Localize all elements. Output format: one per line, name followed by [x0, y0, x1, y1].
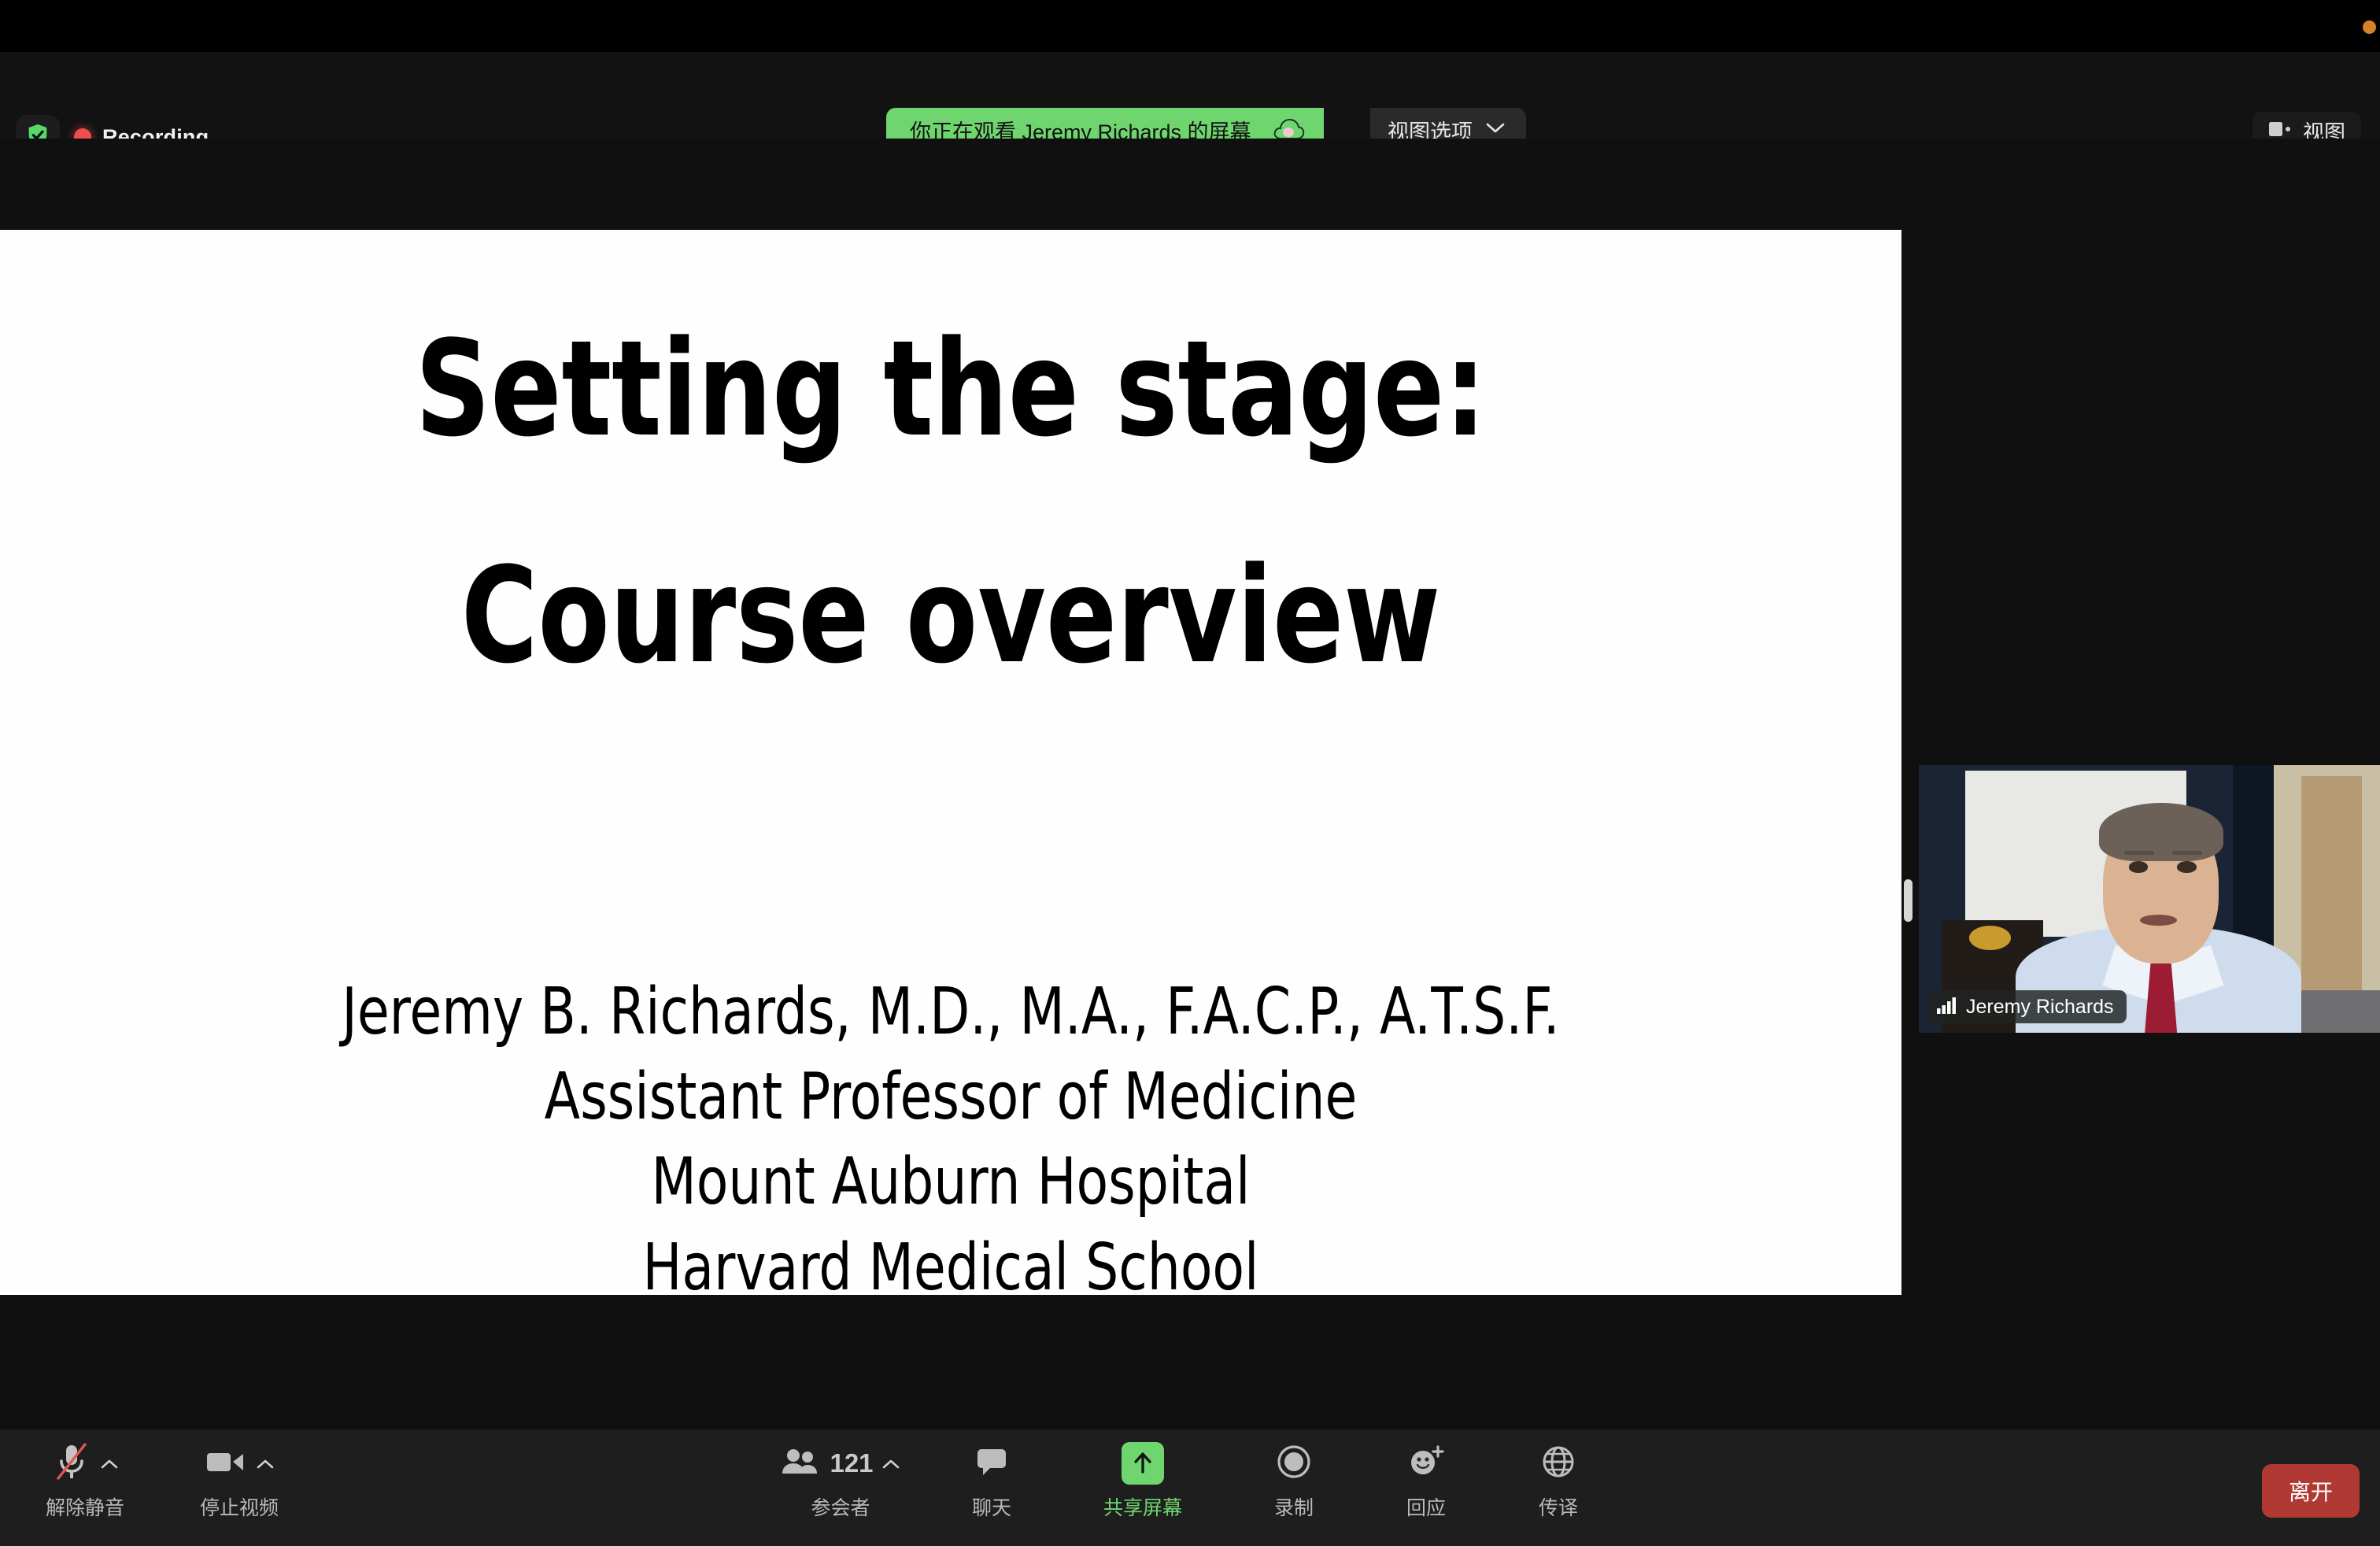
meeting-header-bar: Recording 你正在观看 Jeremy Richards 的屏幕 视图选项: [0, 52, 2380, 139]
participants-icon: [781, 1447, 822, 1481]
zoom-meeting-window: Recording 你正在观看 Jeremy Richards 的屏幕 视图选项: [0, 0, 2380, 1546]
video-camera-icon: [204, 1446, 248, 1481]
toolbar-left-group: 解除静音 停止视频: [19, 1441, 305, 1521]
slide-subtitle-line-3: Mount Auburn Hospital: [95, 1140, 1806, 1225]
toolbar-reactions-label: 回应: [1406, 1492, 1446, 1521]
toolbar-stop-video-button[interactable]: 停止视频: [173, 1441, 305, 1521]
toolbar-share-screen-button[interactable]: 共享屏幕: [1077, 1441, 1209, 1521]
toolbar-chat-label: 聊天: [972, 1492, 1011, 1521]
toolbar-participants-button[interactable]: 121 参会者: [774, 1441, 907, 1521]
slide-subtitle-line-4: Harvard Medical School: [95, 1226, 1806, 1295]
slide-subtitle-line-1: Jeremy B. Richards, M.D., M.A., F.A.C.P.…: [95, 970, 1806, 1055]
toolbar-chat-button[interactable]: 聊天: [944, 1441, 1039, 1521]
toolbar-record-label: 录制: [1274, 1492, 1314, 1521]
shared-slide: Setting the stage: Course overview Jerem…: [0, 230, 1901, 1295]
slide-subtitle-line-2: Assistant Professor of Medicine: [95, 1055, 1806, 1140]
chevron-down-icon: [1485, 122, 1506, 139]
toolbar-stop-video-label: 停止视频: [200, 1492, 279, 1521]
participant-name-tag: Jeremy Richards: [1927, 990, 2127, 1023]
share-screen-arrow-up-icon: [1122, 1442, 1164, 1485]
toolbar-interpretation-button[interactable]: 传译: [1511, 1441, 1606, 1521]
participants-chevron-up-icon[interactable]: [881, 1453, 900, 1474]
toolbar-record-button[interactable]: 录制: [1247, 1441, 1341, 1521]
toolbar-reactions-button[interactable]: 回应: [1379, 1441, 1473, 1521]
toolbar-unmute-button[interactable]: 解除静音: [19, 1441, 151, 1521]
participants-count: 121: [830, 1448, 873, 1478]
meeting-toolbar: 解除静音 停止视频: [0, 1429, 2380, 1546]
record-circle-icon: [1276, 1444, 1312, 1484]
participant-name-label: Jeremy Richards: [1966, 996, 2114, 1019]
toolbar-share-screen-label: 共享屏幕: [1103, 1492, 1182, 1521]
participant-video-tile[interactable]: Jeremy Richards: [1919, 765, 2380, 1033]
chat-bubble-icon: [974, 1446, 1009, 1481]
microphone-muted-icon: [51, 1441, 92, 1487]
window-top-strip: [0, 0, 2380, 52]
slide-title-line1: Setting the stage:: [416, 312, 1487, 466]
toolbar-unmute-label: 解除静音: [46, 1492, 124, 1521]
audio-options-chevron-up-icon[interactable]: [100, 1453, 119, 1474]
toolbar-participants-label: 参会者: [811, 1492, 870, 1521]
slide-title: Setting the stage: Course overview: [114, 323, 1787, 682]
toolbar-center-group: 121 参会者: [774, 1441, 1606, 1521]
reactions-smiley-plus-icon: [1407, 1444, 1445, 1483]
slide-subtitle-block: Jeremy B. Richards, M.D., M.A., F.A.C.P.…: [95, 970, 1806, 1295]
shared-screen-stage: Setting the stage: Course overview Jerem…: [0, 139, 2380, 1429]
video-options-chevron-up-icon[interactable]: [256, 1453, 275, 1474]
video-panel-drag-handle[interactable]: [1904, 879, 1913, 922]
camera-active-dot-icon: [2363, 20, 2376, 34]
slide-title-line2: Course overview: [114, 549, 1787, 682]
globe-interpretation-icon: [1540, 1444, 1576, 1484]
toolbar-interpretation-label: 传译: [1539, 1492, 1578, 1521]
leave-meeting-button[interactable]: 离开: [2262, 1464, 2360, 1518]
audio-bars-icon: [1936, 997, 1957, 1018]
